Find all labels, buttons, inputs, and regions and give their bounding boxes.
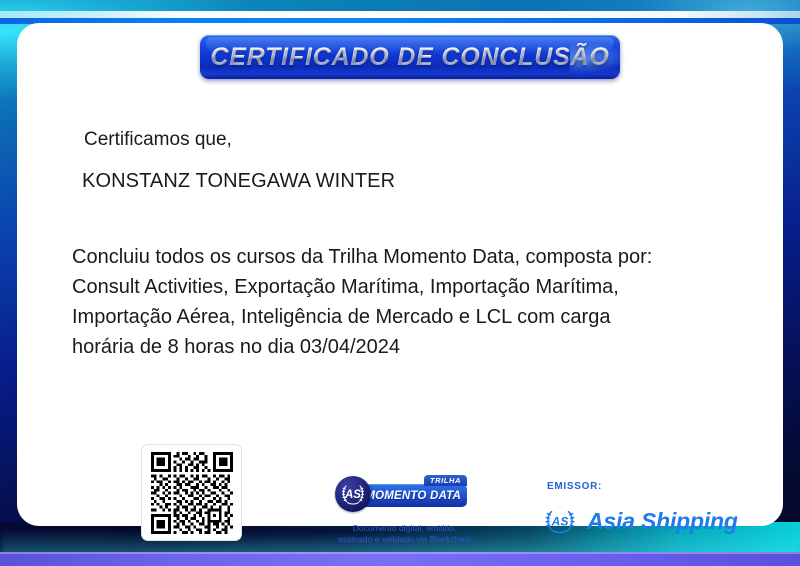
body-line: Consult Activities, Exportação Marítima,… — [72, 272, 762, 302]
certificate-body: Concluiu todos os cursos da Trilha Momen… — [72, 242, 762, 362]
issuer-name: Asia Shipping — [587, 508, 738, 535]
certificate-title-banner: CERTIFICADO DE CONCLUSÃO — [200, 35, 620, 79]
momento-data-logo: MOMENTO DATA TRILHA AS — [335, 475, 467, 513]
blockchain-caption-line-1: Documento digital, emitido, — [322, 523, 487, 534]
page-title: CERTIFICADO DE CONCLUSÃO — [210, 43, 609, 72]
issuer-label: EMISSOR: — [547, 481, 602, 492]
qr-code-container[interactable] — [141, 444, 242, 541]
as-seal-icon: AS — [335, 476, 371, 512]
trilha-tab-label: TRILHA — [424, 475, 467, 486]
momento-data-bar-label: MOMENTO DATA — [365, 490, 461, 502]
momento-data-bar: MOMENTO DATA — [359, 484, 467, 507]
as-laurel-monogram-icon: AS — [337, 478, 369, 510]
body-line: Concluiu todos os cursos da Trilha Momen… — [72, 242, 762, 272]
body-line: Importação Aérea, Inteligência de Mercad… — [72, 302, 762, 332]
svg-text:AS: AS — [344, 489, 361, 501]
certificate-root: CERTIFICADO DE CONCLUSÃO Certificamos qu… — [0, 0, 800, 566]
svg-text:AS: AS — [551, 515, 569, 529]
salutation-text: Certificamos que, — [84, 129, 232, 151]
asia-shipping-logo: AS Asia Shipping — [541, 506, 738, 536]
recipient-name: KONSTANZ TONEGAWA WINTER — [82, 170, 395, 193]
qr-code-icon[interactable] — [151, 452, 233, 534]
body-line: horária de 8 horas no dia 03/04/2024 — [72, 332, 762, 362]
bottom-purple-stripe — [0, 552, 800, 566]
blockchain-caption: Documento digital, emitido, assinado e v… — [322, 523, 487, 545]
certificate-card: CERTIFICADO DE CONCLUSÃO Certificamos qu… — [17, 23, 783, 526]
top-white-stripe — [0, 11, 800, 18]
asia-shipping-laurel-icon: AS — [541, 506, 579, 536]
blockchain-caption-line-2: assinado e validado via Blockchain — [322, 534, 487, 545]
